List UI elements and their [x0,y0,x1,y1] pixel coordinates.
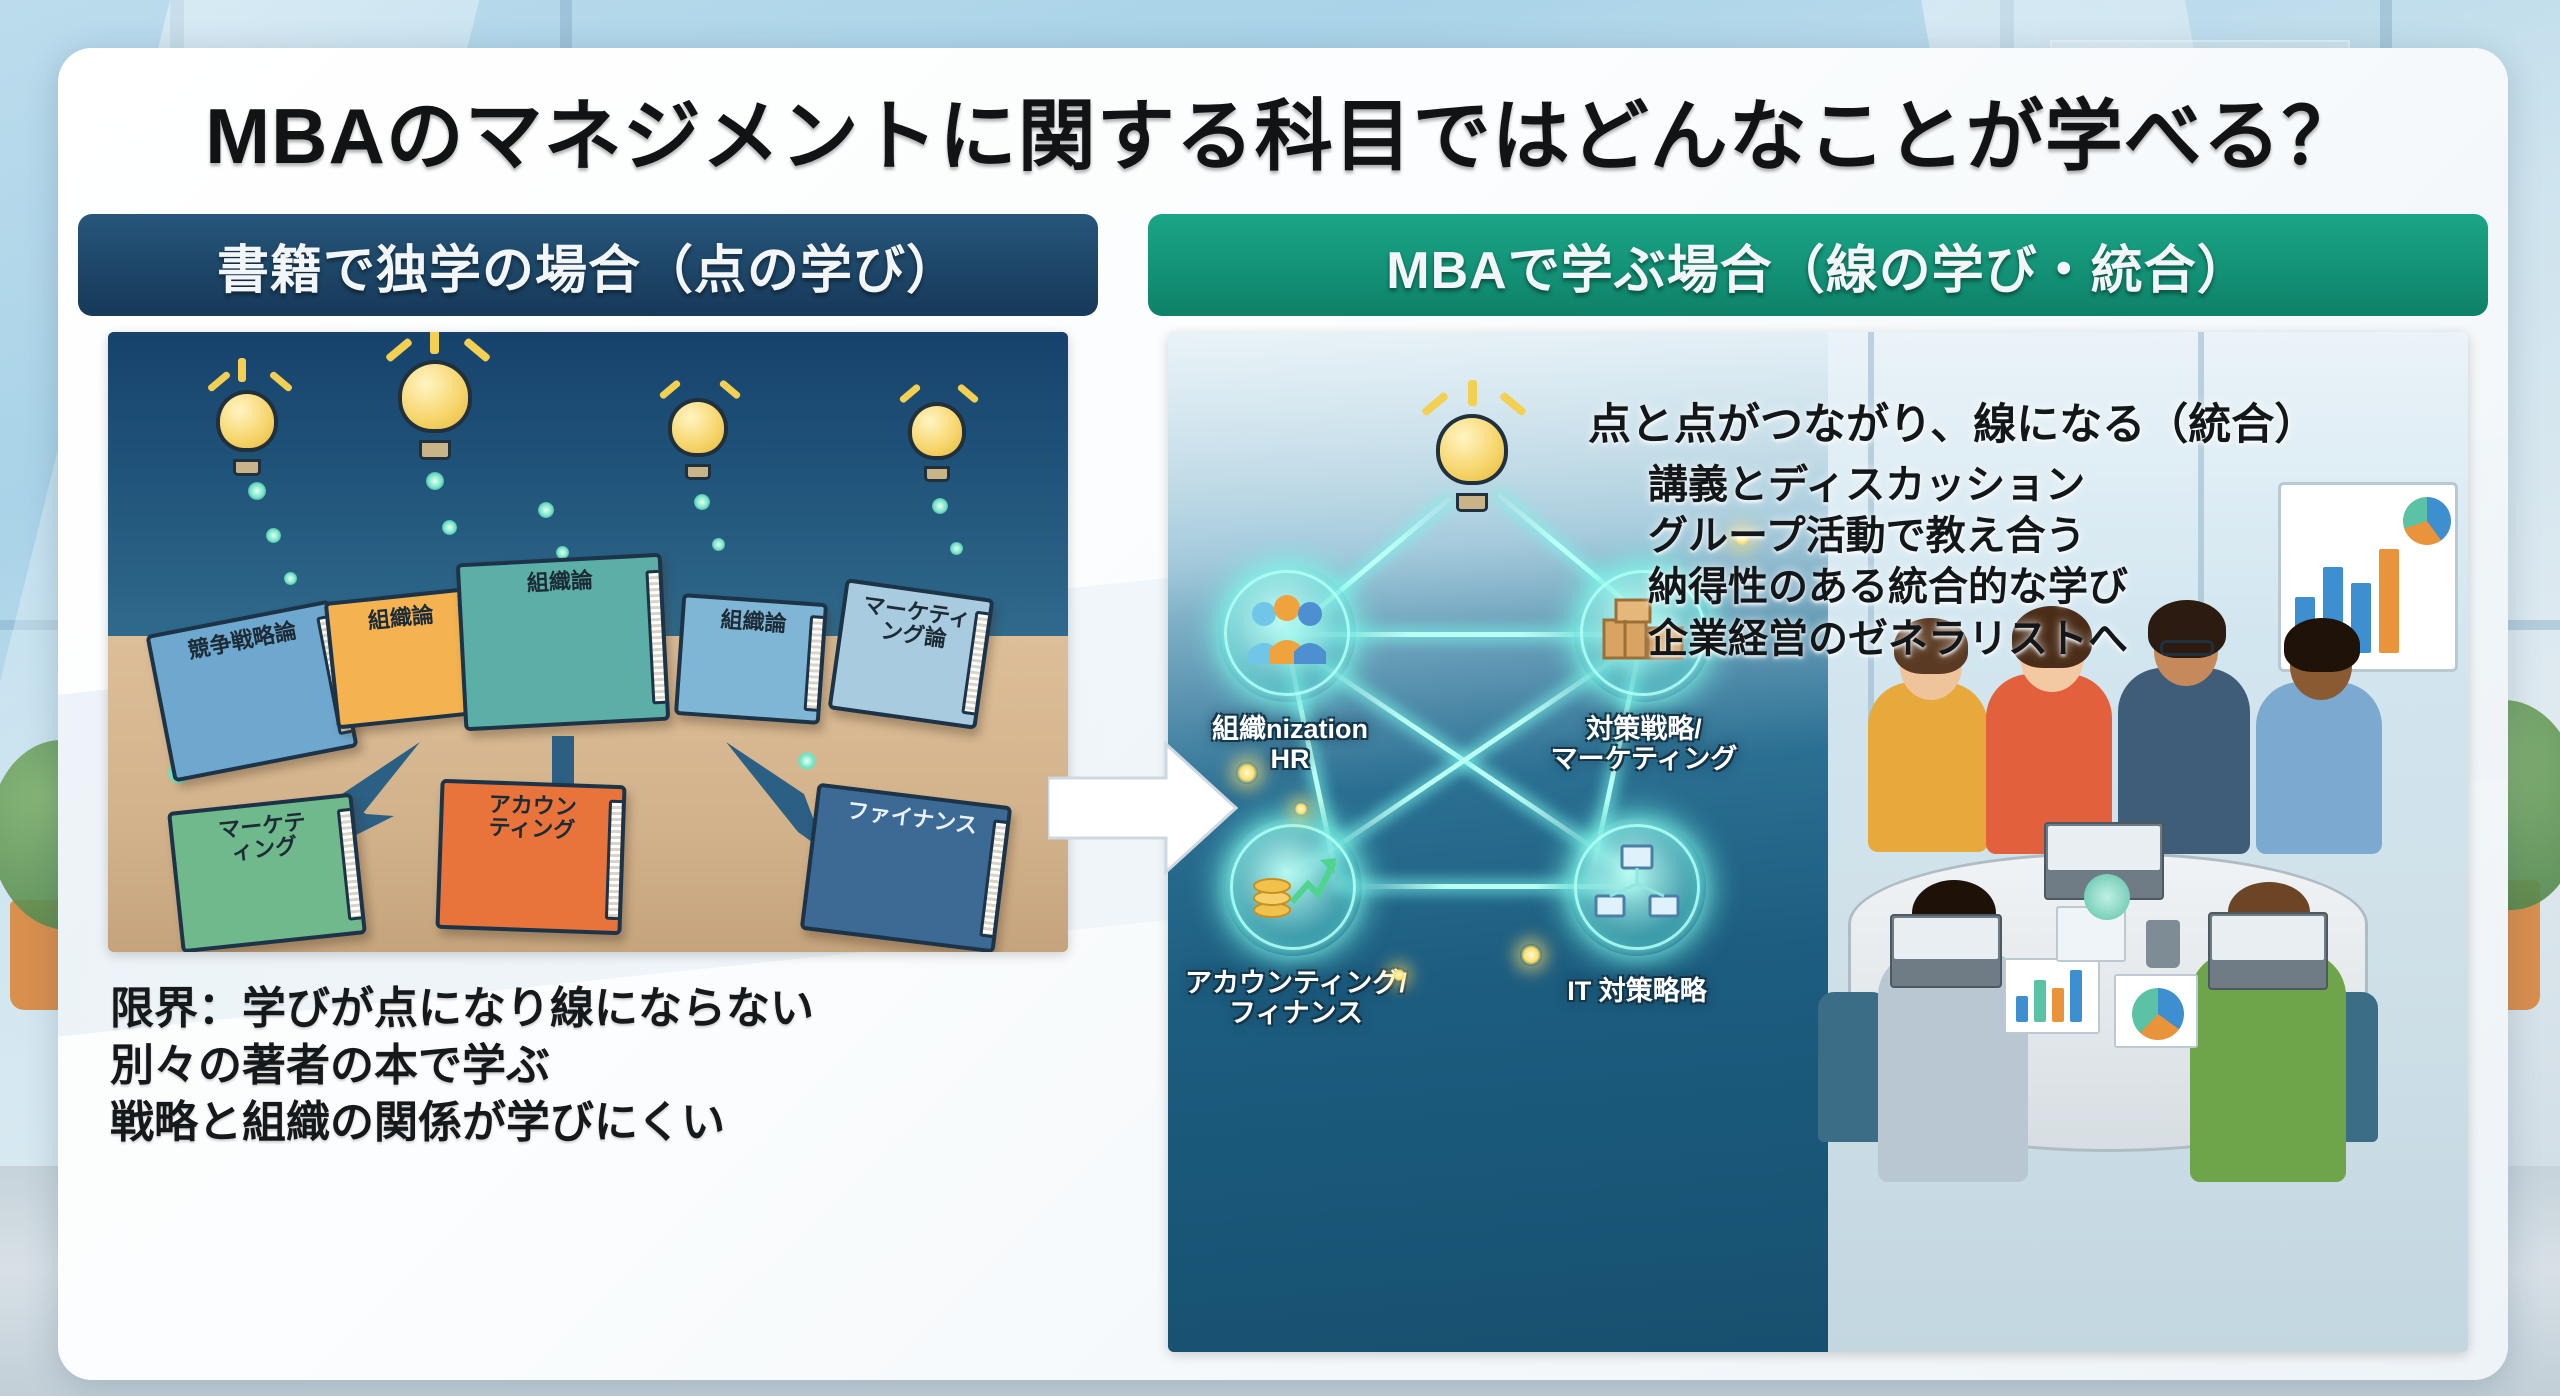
coffee-cup [2146,920,2180,968]
right-panel-bullets: 講義とディスカッション グループ活動で教え合う 納得性のある統合的な学び 企業経… [1648,460,2468,665]
idea-dot [426,472,444,490]
right-arrow-icon [1048,738,1238,878]
bulb-ray [238,358,246,382]
self-study-illustration: 競争戦略論 組織論 組織論 組織論 マーケティ ング論 [108,332,1068,952]
spark [1392,968,1406,982]
person-body [1868,682,1988,852]
panel-mba-study: MBAで学ぶ場合（線の学び・統合） [1148,214,2488,1364]
spark [1294,802,1308,816]
lightbulb-icon [216,390,278,474]
main-card: MBAのマネジメントに関する科目ではどんなことが学べる？ 書籍で独学の場合（点の… [58,48,2508,1380]
idea-dot [538,502,554,518]
book-organization-3: 組織論 [674,593,828,725]
bulb-ray [430,332,439,354]
idea-dot [266,528,281,543]
book-label: アカウン ティング [440,783,623,931]
book-marketing-theory: マーケティ ング論 [828,578,995,730]
laptop [2208,912,2328,990]
pie-document [2114,974,2198,1048]
spark [1236,762,1258,784]
chart-document [2004,958,2100,1034]
spark [1520,944,1542,966]
node-label-strategy: 対策戦略/ マーケティング [1514,714,1774,774]
mba-illustration: 組織nization HR 対策戦略/ マーケティング [1168,332,2468,1352]
idea-dot [694,494,710,510]
node-label-it: IT 対策略略 [1506,976,1768,1006]
lightbulb-icon [398,360,472,458]
laptop [1890,914,2002,988]
page-title: MBAのマネジメントに関する科目ではどんなことが学べる？ [58,74,2508,186]
coins-growth-icon [1246,840,1340,934]
bulb-ray [1421,391,1449,416]
idea-dot [284,572,297,585]
right-panel-lead: 点と点がつながり、線になる（統合） [1588,390,2468,452]
book-accounting: アカウン ティング [435,779,626,935]
idea-dot [932,498,948,514]
right-panel-header: MBAで学ぶ場合（線の学び・統合） [1148,214,2488,316]
teal-circle-graphic [2084,874,2130,920]
panel-self-study: 書籍で独学の場合（点の学び） [78,214,1098,1364]
left-panel-header: 書籍で独学の場合（点の学び） [78,214,1098,316]
book-finance: ファイナンス [800,783,1013,952]
book-marketing: マーケテ ィング [167,793,367,952]
book-label: ファイナンス [804,787,1008,949]
idea-dot [248,482,266,500]
bulb-ray [1499,391,1527,416]
idea-dot [712,538,725,551]
lightbulb-icon [668,398,728,478]
left-panel-bullets: 限界：学びが点になり線にならない 別々の著者の本で学ぶ 戦略と組織の関係が学びに… [110,980,1070,1152]
network-computers-icon [1590,840,1684,934]
person-body [2256,682,2382,854]
bulb-ray [1468,380,1477,406]
idea-dot [442,520,457,535]
book-label: マーケテ ィング [171,797,362,949]
lightbulb-icon [1436,414,1508,510]
book-label: 組織論 [460,557,666,727]
people-group-icon [1240,586,1334,680]
book-organization-2: 組織論 [456,553,671,732]
lightbulb-icon [908,402,966,480]
book-label: 組織論 [678,597,824,720]
idea-dot [950,542,963,555]
